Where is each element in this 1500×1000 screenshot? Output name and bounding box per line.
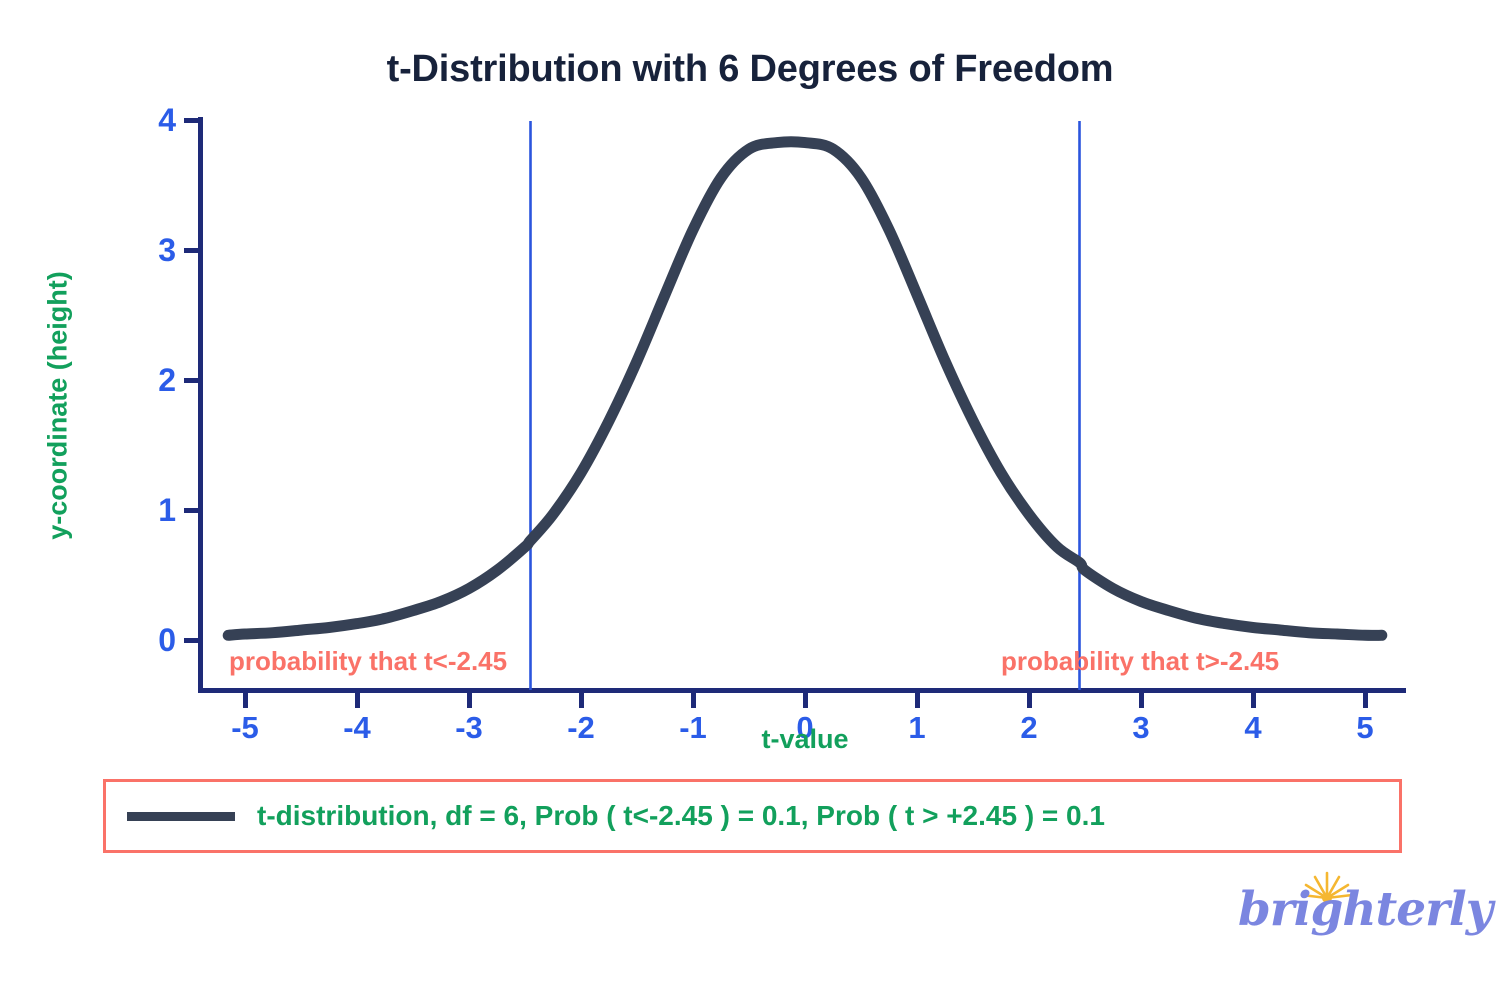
legend-label: t-distribution, df = 6, Prob ( t<-2.45 )…	[257, 800, 1105, 832]
t-distribution-curve	[228, 142, 1382, 636]
x-tick-label: 3	[1111, 712, 1171, 743]
y-tick-label: 1	[130, 494, 176, 526]
y-tick-label: 2	[130, 364, 176, 396]
legend-line-swatch	[127, 812, 235, 821]
y-axis-title: y-coordinate (height)	[43, 196, 74, 616]
y-axis-ticks	[184, 121, 200, 641]
y-tick-label: 0	[130, 624, 176, 656]
chart-canvas: t-Distribution with 6 Degrees of Freedom	[0, 0, 1500, 1000]
x-tick-label: 5	[1335, 712, 1395, 743]
brighterly-logo: brighterly	[1238, 868, 1448, 954]
x-tick-label: -4	[327, 712, 387, 743]
y-tick-label: 3	[130, 234, 176, 266]
annotation-left-tail: probability that t<-2.45	[229, 648, 507, 674]
brand-wordmark: brighterly	[1238, 886, 1448, 933]
x-axis-title: t-value	[705, 724, 905, 755]
x-tick-label: -2	[551, 712, 611, 743]
x-tick-label: -3	[439, 712, 499, 743]
annotation-right-tail: probability that t>-2.45	[1001, 648, 1279, 674]
x-tick-label: 4	[1223, 712, 1283, 743]
y-tick-label: 4	[130, 104, 176, 136]
x-tick-label: -5	[215, 712, 275, 743]
x-tick-label: 2	[999, 712, 1059, 743]
chart-legend: t-distribution, df = 6, Prob ( t<-2.45 )…	[103, 779, 1402, 853]
